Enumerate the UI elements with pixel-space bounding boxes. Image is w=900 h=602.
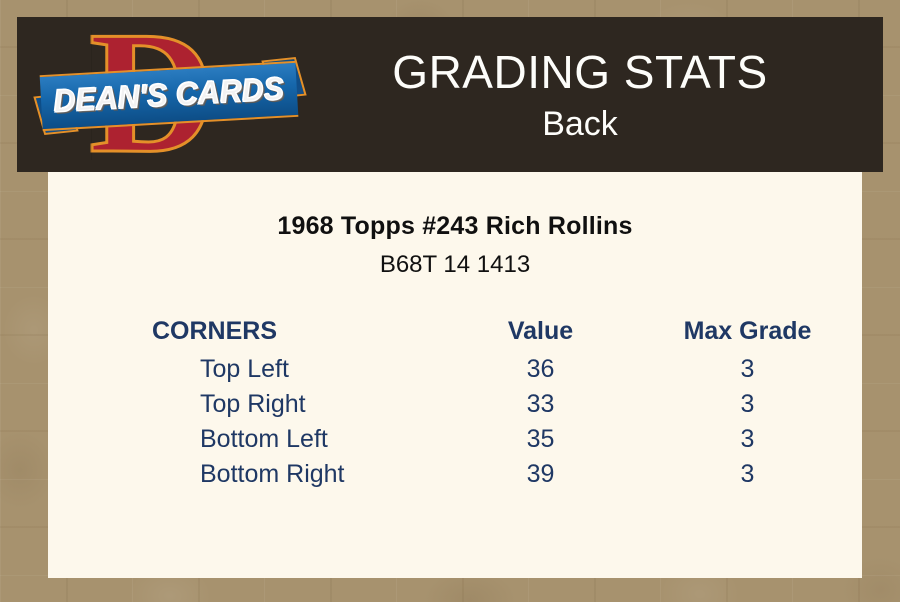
row-label: Top Left [48,352,448,387]
table-row: Bottom Right 39 3 [48,457,862,492]
page-subtitle: Back [301,102,859,146]
deans-cards-logo[interactable]: D DEAN'S CARDS [39,20,301,170]
row-value: 33 [448,387,633,422]
row-max-grade: 3 [633,422,862,457]
card-identifier: B68T 14 1413 [48,251,862,279]
column-header-max-grade: Max Grade [633,314,862,352]
row-label: Top Right [48,387,448,422]
grading-stats-table: CORNERS Value Max Grade Top Left 36 3 To… [48,314,862,492]
card-title: 1968 Topps #243 Rich Rollins [48,212,862,241]
row-value: 35 [448,422,633,457]
table-header-row: CORNERS Value Max Grade [48,314,862,352]
table-header: CORNERS Value Max Grade [48,314,862,352]
logo-ribbon: DEAN'S CARDS [40,60,299,130]
row-label: Bottom Left [48,422,448,457]
row-label: Bottom Right [48,457,448,492]
column-header-corners: CORNERS [48,314,448,352]
logo-ribbon-text: DEAN'S CARDS [53,71,285,120]
table-row: Top Left 36 3 [48,352,862,387]
table-row: Bottom Left 35 3 [48,422,862,457]
table-row: Top Right 33 3 [48,387,862,422]
table-body: Top Left 36 3 Top Right 33 3 Bottom Left… [48,352,862,492]
row-value: 39 [448,457,633,492]
row-value: 36 [448,352,633,387]
header-titles: GRADING STATS Back [301,44,883,146]
page-title: GRADING STATS [301,44,859,100]
column-header-value: Value [448,314,633,352]
content-panel: 1968 Topps #243 Rich Rollins B68T 14 141… [48,172,862,578]
header-bar: D DEAN'S CARDS GRADING STATS Back [17,17,883,172]
row-max-grade: 3 [633,387,862,422]
row-max-grade: 3 [633,457,862,492]
row-max-grade: 3 [633,352,862,387]
